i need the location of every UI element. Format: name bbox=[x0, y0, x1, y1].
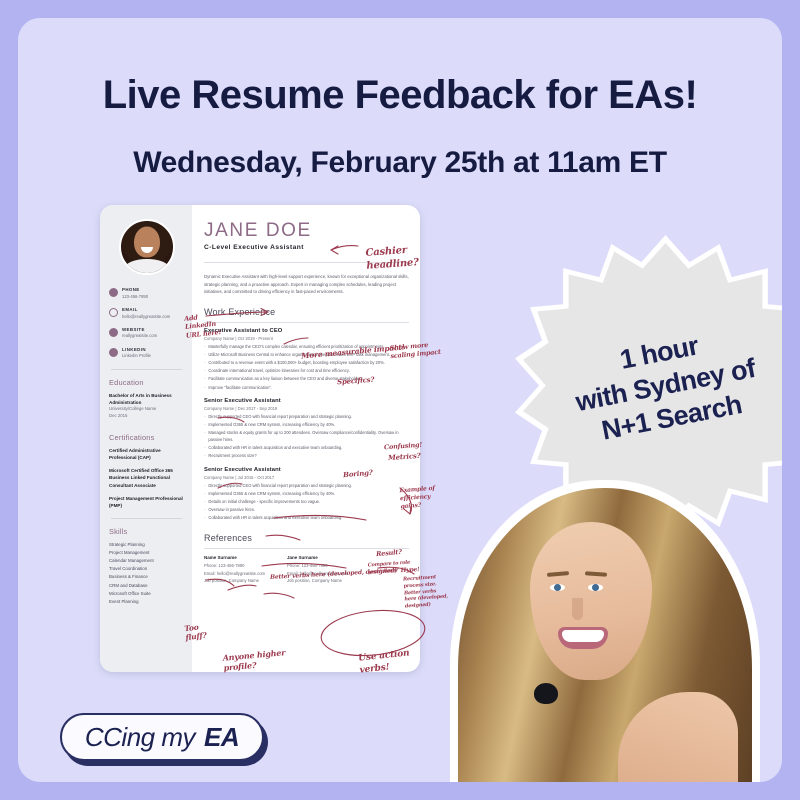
bullet: -Details on initial challenge - specific… bbox=[204, 499, 409, 506]
education-entry: Bachelor of Arts in Business Administrat… bbox=[109, 392, 184, 420]
skill-item: Business & Finance bbox=[109, 573, 184, 581]
divider bbox=[204, 262, 409, 263]
poster-panel: Live Resume Feedback for EAs! Wednesday,… bbox=[18, 18, 782, 782]
contact-website: WEBSITE reallygreatsite.com bbox=[109, 327, 184, 340]
bullet: -Recruitment process size? bbox=[204, 453, 409, 460]
globe-icon bbox=[109, 328, 118, 337]
microphone-head bbox=[534, 683, 558, 704]
logo-text-bold: EA bbox=[204, 722, 239, 753]
email-icon bbox=[109, 308, 118, 317]
linkedin-icon bbox=[109, 348, 118, 357]
resume-summary: Dynamic Executive Assistant with high-le… bbox=[204, 273, 409, 296]
certification-item: Project Management Professional (PMP) bbox=[109, 495, 184, 509]
resume-sidebar: PHONE 123-456-7890 EMAIL hello@reallygre… bbox=[100, 205, 192, 672]
skill-item: Travel Coordination bbox=[109, 565, 184, 573]
resume-job-title: C-Level Executive Assistant bbox=[204, 244, 409, 251]
resume-main: JANE DOE C-Level Executive Assistant Dyn… bbox=[192, 205, 420, 672]
certification-item: Certified Administrative Professional (C… bbox=[109, 447, 184, 461]
skill-item: Calendar Management bbox=[109, 557, 184, 565]
bullet: -Oversaw in passive hires. bbox=[204, 507, 409, 514]
skill-item: Event Planning bbox=[109, 598, 184, 606]
bullet: -Masterfully manage the CEO's complex ca… bbox=[204, 344, 409, 351]
certifications-heading: Certifications bbox=[109, 433, 184, 442]
logo-pill: CCing my EA bbox=[60, 713, 264, 761]
bullet: -Collaborated with HR in talent acquisit… bbox=[204, 445, 409, 452]
contact-linkedin: LINKEDIN LinkedIn Profile bbox=[109, 347, 184, 360]
resume-name: JANE DOE bbox=[204, 221, 409, 240]
logo-text-light: CCing my bbox=[85, 722, 195, 753]
speaker-photo bbox=[450, 480, 782, 782]
bullet: -Coordinate international travel, optimi… bbox=[204, 368, 409, 375]
eye-left bbox=[550, 584, 565, 591]
skill-item: Project Management bbox=[109, 549, 184, 557]
education-heading: Education bbox=[109, 378, 184, 387]
divider bbox=[111, 369, 182, 370]
skills-heading: Skills bbox=[109, 527, 184, 536]
references-heading: References bbox=[204, 533, 409, 543]
contact-phone: PHONE 123-456-7890 bbox=[109, 287, 184, 300]
skill-item: CRM and Database bbox=[109, 582, 184, 590]
work-experience-heading: Work Experience bbox=[204, 307, 409, 317]
mouth bbox=[558, 627, 608, 649]
skill-item: Microsoft Office Suite bbox=[109, 590, 184, 598]
bullet: -Implemented O365 & new CRM system, incr… bbox=[204, 491, 409, 498]
bullet: -Contributed to a revenue event with a $… bbox=[204, 360, 409, 367]
bullet: -Managed stocks & equity grants for up t… bbox=[204, 430, 409, 443]
job-entry: Senior Executive Assistant Company Name … bbox=[204, 398, 409, 460]
eyebrow-left bbox=[547, 571, 569, 577]
job-entry: Senior Executive Assistant Company Name … bbox=[204, 467, 409, 522]
references-list: Name Surname Phone: 123-456-7890 Email: … bbox=[204, 554, 409, 585]
bullet: -Facilitate communication as a key liais… bbox=[204, 376, 409, 383]
divider bbox=[204, 548, 409, 549]
job-entry: Executive Assistant to CEO Company Name … bbox=[204, 328, 409, 391]
bullet: -Directly supported CEO with financial r… bbox=[204, 414, 409, 421]
event-datetime: Wednesday, February 25th at 11am ET bbox=[18, 146, 782, 180]
eye-right bbox=[588, 584, 603, 591]
brand-logo[interactable]: CCing my EA bbox=[60, 713, 268, 765]
resume-document: PHONE 123-456-7890 EMAIL hello@reallygre… bbox=[100, 205, 420, 672]
eyebrow-right bbox=[585, 571, 607, 577]
reference-entry: Name Surname Phone: 123-456-7890 Email: … bbox=[204, 554, 265, 585]
bullet: -Implemented O365 & new CRM system, incr… bbox=[204, 422, 409, 429]
reference-entry: Jane Surname Phone: 123-456-7890 Email: … bbox=[287, 554, 348, 585]
divider bbox=[204, 322, 409, 323]
bullet: -Directly supported CEO with financial r… bbox=[204, 483, 409, 490]
bullet: -Utilize Microsoft Business Central to e… bbox=[204, 352, 409, 359]
nose bbox=[572, 598, 583, 620]
avatar bbox=[119, 219, 175, 275]
bullet: -Collaborated with HR in talent acquisit… bbox=[204, 515, 409, 522]
contact-email: EMAIL hello@reallygreatsite.com bbox=[109, 307, 184, 320]
phone-icon bbox=[109, 288, 118, 297]
speaker-face bbox=[530, 522, 652, 680]
certification-item: Microsoft Certified Office 365 Business … bbox=[109, 467, 184, 488]
contact-list: PHONE 123-456-7890 EMAIL hello@reallygre… bbox=[109, 287, 184, 360]
bullet: -Improve "facilitate communication". bbox=[204, 385, 409, 392]
skill-item: Strategic Planning bbox=[109, 541, 184, 549]
divider bbox=[111, 518, 182, 519]
page-title: Live Resume Feedback for EAs! bbox=[18, 73, 782, 118]
